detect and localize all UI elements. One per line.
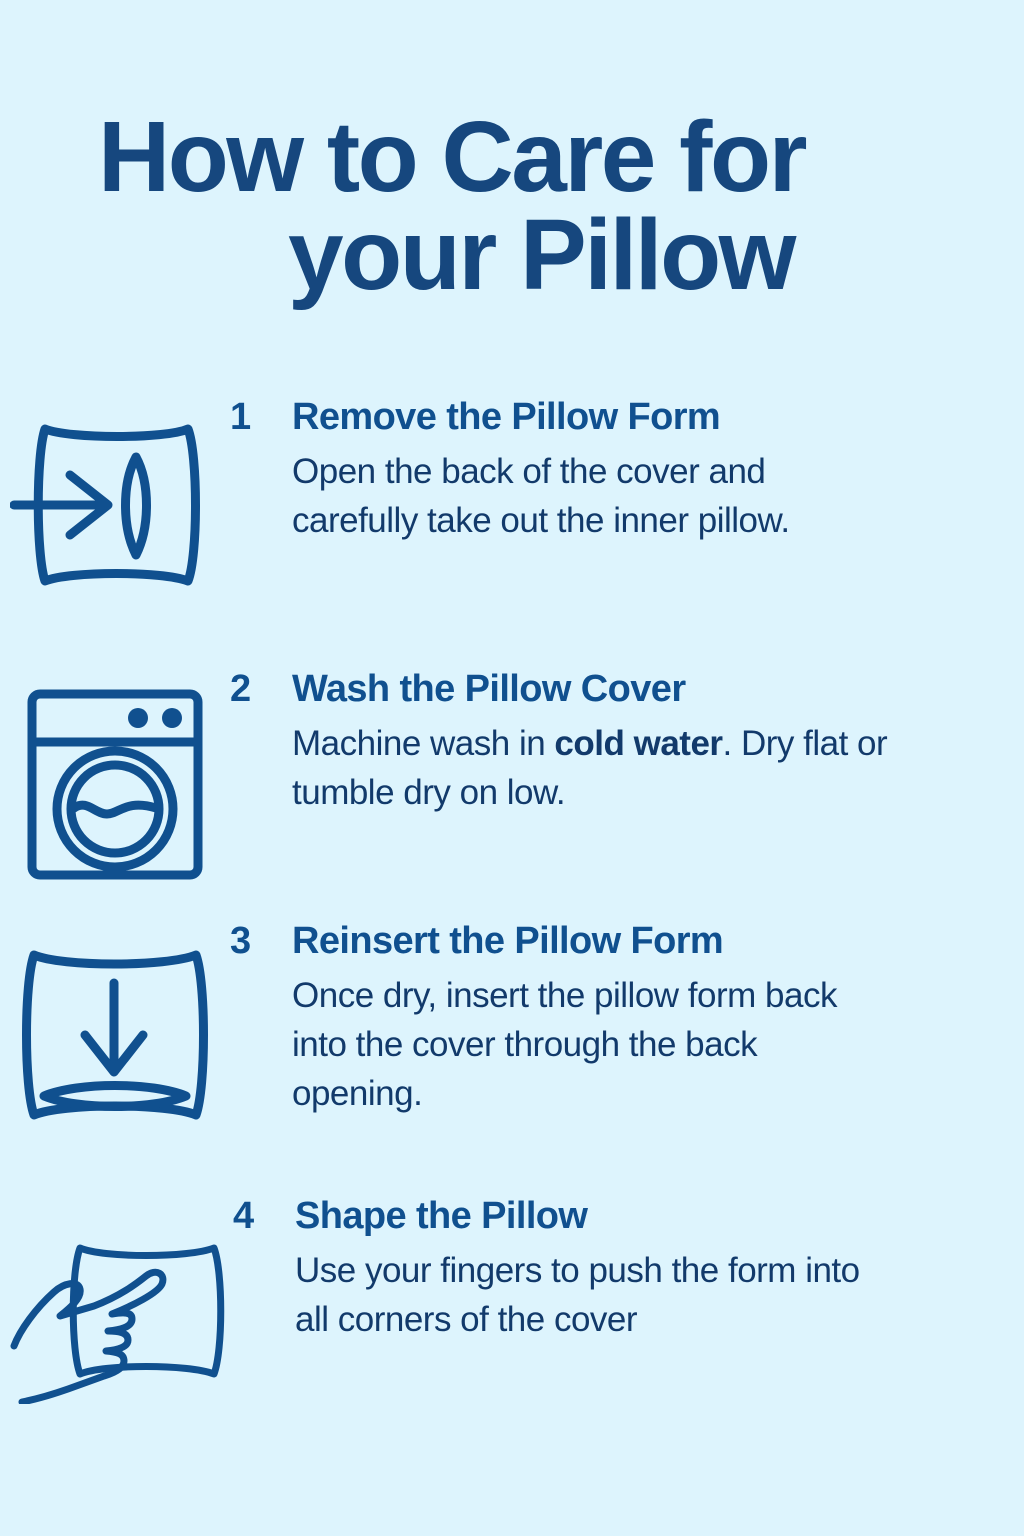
step-description-2-emphasis: cold water (554, 724, 722, 763)
step-heading-1: Remove the Pillow Form (292, 395, 1000, 439)
step-description-1: Open the back of the cover and carefully… (292, 447, 852, 545)
step-body-2: 2 Wash the Pillow Cover Machine wash in … (230, 667, 1024, 817)
step-description-2: Machine wash in cold water. Dry flat or … (292, 719, 892, 817)
step-description-2-pre: Machine wash in (292, 724, 554, 763)
step-description-3: Once dry, insert the pillow form back in… (292, 971, 852, 1118)
step-description-3-text: Once dry, insert the pillow form back in… (292, 976, 837, 1113)
step-text-2: Wash the Pillow Cover Machine wash in co… (292, 667, 1000, 817)
step-heading-3: Reinsert the Pillow Form (292, 919, 1000, 963)
step-description-4: Use your fingers to push the form into a… (295, 1246, 875, 1344)
pillow-arrow-in-icon (0, 395, 230, 598)
step-body-4: 4 Shape the Pillow Use your fingers to p… (233, 1194, 1024, 1344)
step-text-4: Shape the Pillow Use your fingers to pus… (295, 1194, 1000, 1344)
washing-machine-icon (0, 667, 230, 882)
pillow-arrow-down-icon (0, 919, 230, 1129)
pillow-care-infographic: How to Care for your Pillow 1 (0, 0, 1024, 1536)
page-title-line-2: your Pillow (70, 206, 954, 304)
step-text-1: Remove the Pillow Form Open the back of … (292, 395, 1000, 545)
step-item-2: 2 Wash the Pillow Cover Machine wash in … (0, 667, 1024, 919)
step-number-4: 4 (233, 1194, 295, 1238)
step-body-1: 1 Remove the Pillow Form Open the back o… (230, 395, 1024, 545)
step-item-4: 4 Shape the Pillow Use your fingers to p… (0, 1194, 1024, 1434)
page-title: How to Care for your Pillow (0, 108, 1024, 304)
step-description-4-text: Use your fingers to push the form into a… (295, 1251, 860, 1339)
step-number-1: 1 (230, 395, 292, 439)
step-body-3: 3 Reinsert the Pillow Form Once dry, ins… (230, 919, 1024, 1118)
step-description-1-text: Open the back of the cover and carefully… (292, 452, 790, 540)
step-number-2: 2 (230, 667, 292, 711)
step-heading-4: Shape the Pillow (295, 1194, 1000, 1238)
step-number-3: 3 (230, 919, 292, 963)
hand-pointing-pillow-icon (0, 1194, 233, 1404)
step-heading-2: Wash the Pillow Cover (292, 667, 1000, 711)
steps-list: 1 Remove the Pillow Form Open the back o… (0, 395, 1024, 1434)
step-text-3: Reinsert the Pillow Form Once dry, inser… (292, 919, 1000, 1118)
page-title-line-1: How to Care for (70, 108, 954, 206)
step-item-3: 3 Reinsert the Pillow Form Once dry, ins… (0, 919, 1024, 1194)
step-item-1: 1 Remove the Pillow Form Open the back o… (0, 395, 1024, 667)
